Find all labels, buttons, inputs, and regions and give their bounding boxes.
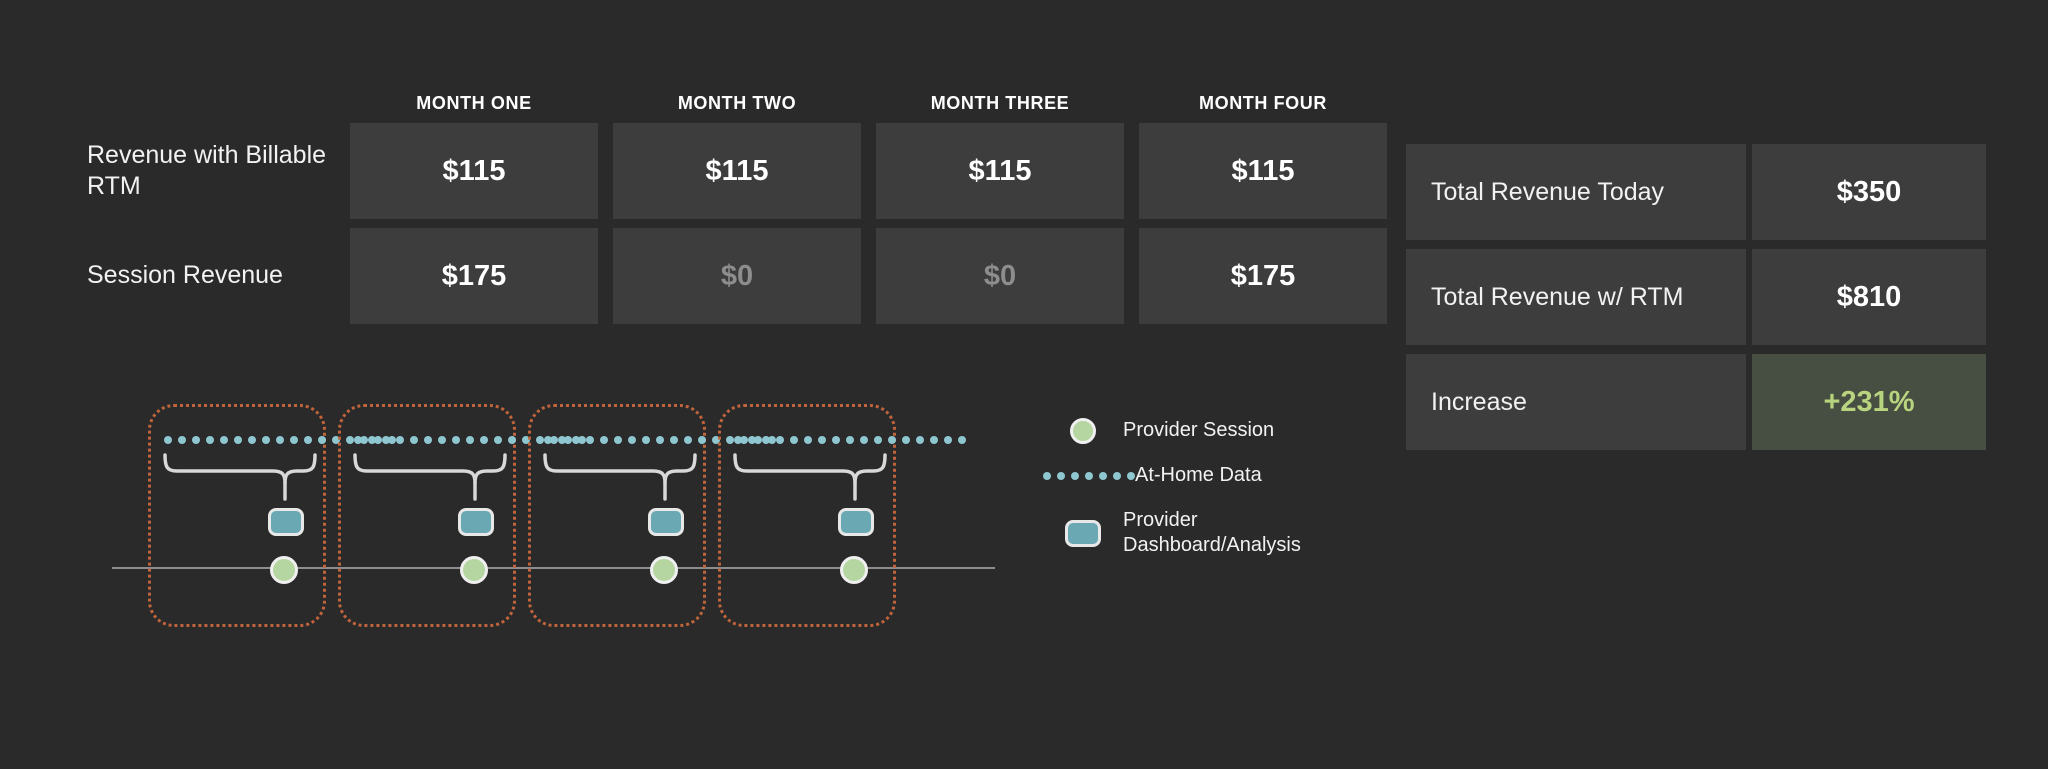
legend: Provider Session At-Home Data Provider D… [1043,418,1373,578]
summary-value-increase: +231% [1752,354,1986,450]
provider-session-marker [650,556,678,584]
cell-session-revenue-month-two: $0 [613,228,861,324]
timeline-diagram [0,390,1030,650]
cell-billable-rtm-month-four: $115 [1139,123,1387,219]
legend-label-provider-session: Provider Session [1123,418,1274,444]
timeline-month-group [338,404,516,627]
at-home-data-dots [734,436,966,444]
provider-session-icon [1043,418,1123,444]
summary-value-total-revenue-today: $350 [1752,144,1986,240]
month-header-four: MONTH FOUR [1139,93,1387,114]
cell-session-revenue-month-one: $175 [350,228,598,324]
legend-item-provider-session: Provider Session [1043,418,1373,444]
table-row-billable-rtm: Revenue with Billable RTM $115 $115 $115… [0,123,1345,219]
month-header-two: MONTH TWO [613,93,861,114]
month-header-one: MONTH ONE [350,93,598,114]
at-home-data-icon [1043,472,1135,480]
cell-billable-rtm-month-three: $115 [876,123,1124,219]
summary-row-total-revenue-today: Total Revenue Today $350 [1406,144,1986,240]
provider-dashboard-marker [648,508,684,536]
month-header-three: MONTH THREE [876,93,1124,114]
month-header-row: MONTH ONE MONTH TWO MONTH THREE MONTH FO… [0,78,1345,114]
summary-row-increase: Increase +231% [1406,354,1986,450]
row-label-session-revenue: Session Revenue [0,228,350,324]
row-label-billable-rtm: Revenue with Billable RTM [0,123,350,219]
brace-icon [351,453,509,505]
cell-billable-rtm-month-two: $115 [613,123,861,219]
legend-item-at-home-data: At-Home Data [1043,463,1373,489]
timeline-month-group [718,404,896,627]
table-row-session-revenue: Session Revenue $175 $0 $0 $175 [0,228,1345,324]
provider-session-marker [840,556,868,584]
provider-session-marker [270,556,298,584]
cell-session-revenue-month-three: $0 [876,228,1124,324]
provider-dashboard-marker [268,508,304,536]
summary-label-total-revenue-rtm: Total Revenue w/ RTM [1406,249,1746,345]
cell-billable-rtm-month-one: $115 [350,123,598,219]
revenue-table: MONTH ONE MONTH TWO MONTH THREE MONTH FO… [0,78,1345,324]
timeline-month-group [148,404,326,627]
summary-panel: Total Revenue Today $350 Total Revenue w… [1406,144,1986,459]
summary-label-total-revenue-today: Total Revenue Today [1406,144,1746,240]
provider-dashboard-icon [1043,520,1123,547]
brace-icon [541,453,699,505]
legend-label-at-home-data: At-Home Data [1135,463,1262,489]
provider-session-marker [460,556,488,584]
summary-label-increase: Increase [1406,354,1746,450]
provider-dashboard-marker [458,508,494,536]
provider-dashboard-marker [838,508,874,536]
legend-item-provider-dashboard: Provider Dashboard/Analysis [1043,508,1373,559]
cell-session-revenue-month-four: $175 [1139,228,1387,324]
legend-label-provider-dashboard: Provider Dashboard/Analysis [1123,508,1301,559]
brace-icon [731,453,889,505]
timeline-month-group [528,404,706,627]
summary-row-total-revenue-rtm: Total Revenue w/ RTM $810 [1406,249,1986,345]
summary-value-total-revenue-rtm: $810 [1752,249,1986,345]
brace-icon [161,453,319,505]
